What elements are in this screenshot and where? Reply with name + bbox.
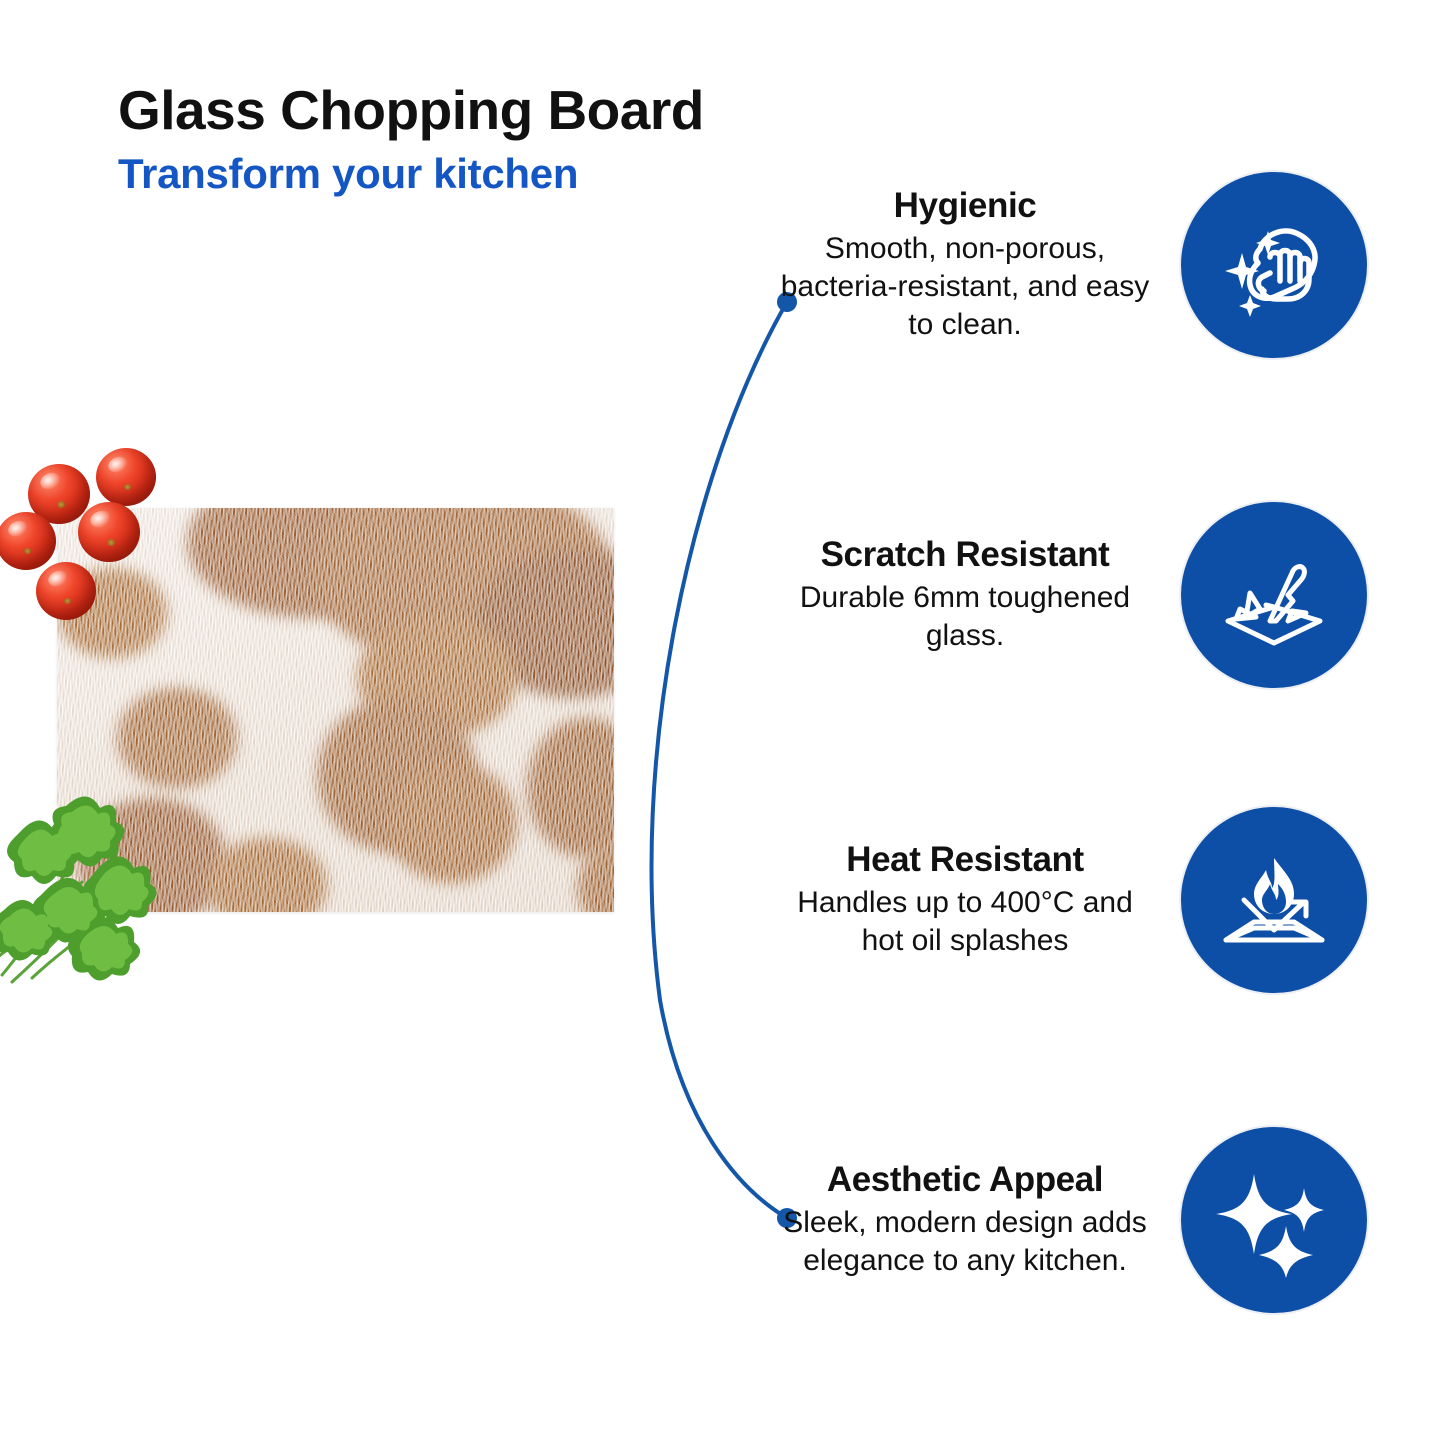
feature-description: Sleek, modern design adds elegance to an… [775, 1204, 1155, 1280]
feature-description: Smooth, non-porous, bacteria-resistant, … [775, 230, 1155, 343]
knife-scratch-surface-icon [1179, 500, 1369, 690]
parsley-garnish [0, 770, 222, 985]
feature-text: Heat Resistant Handles up to 400°C and h… [775, 840, 1155, 960]
hand-wiping-sparkle-icon [1179, 170, 1369, 360]
tomato-blossom-end [57, 501, 65, 508]
feature-text: Scratch Resistant Durable 6mm toughened … [775, 535, 1155, 655]
feature-title: Heat Resistant [775, 840, 1155, 879]
feature-description: Durable 6mm toughened glass. [775, 579, 1155, 655]
sparkles-icon [1179, 1125, 1369, 1315]
infographic-page: Glass Chopping Board Transform your kitc… [0, 0, 1445, 1445]
feature-scratch-resistant: Scratch Resistant Durable 6mm toughened … [775, 500, 1369, 690]
tomato-blossom-end [107, 539, 115, 546]
cherry-tomato [78, 502, 140, 562]
page-subtitle: Transform your kitchen [118, 152, 878, 196]
page-title: Glass Chopping Board [118, 82, 878, 140]
heading-block: Glass Chopping Board Transform your kitc… [118, 82, 878, 196]
tomato-body [36, 562, 96, 620]
feature-title: Hygienic [775, 186, 1155, 225]
feature-description: Handles up to 400°C and hot oil splashes [775, 884, 1155, 960]
flame-heat-deflect-icon [1179, 805, 1369, 995]
tomato-body [96, 448, 156, 506]
feature-text: Hygienic Smooth, non-porous, bacteria-re… [775, 186, 1155, 344]
feature-title: Aesthetic Appeal [775, 1160, 1155, 1199]
feature-text: Aesthetic Appeal Sleek, modern design ad… [775, 1160, 1155, 1280]
cherry-tomato [96, 448, 156, 506]
product-photo [0, 440, 680, 985]
tomato-body [0, 512, 56, 570]
tomato-body [78, 502, 140, 562]
feature-heat-resistant: Heat Resistant Handles up to 400°C and h… [775, 805, 1369, 995]
parsley-svg [0, 770, 222, 985]
feature-aesthetic-appeal: Aesthetic Appeal Sleek, modern design ad… [775, 1125, 1369, 1315]
feature-hygienic: Hygienic Smooth, non-porous, bacteria-re… [775, 170, 1369, 360]
cherry-tomato [0, 512, 56, 570]
feature-title: Scratch Resistant [775, 535, 1155, 574]
cherry-tomato [36, 562, 96, 620]
